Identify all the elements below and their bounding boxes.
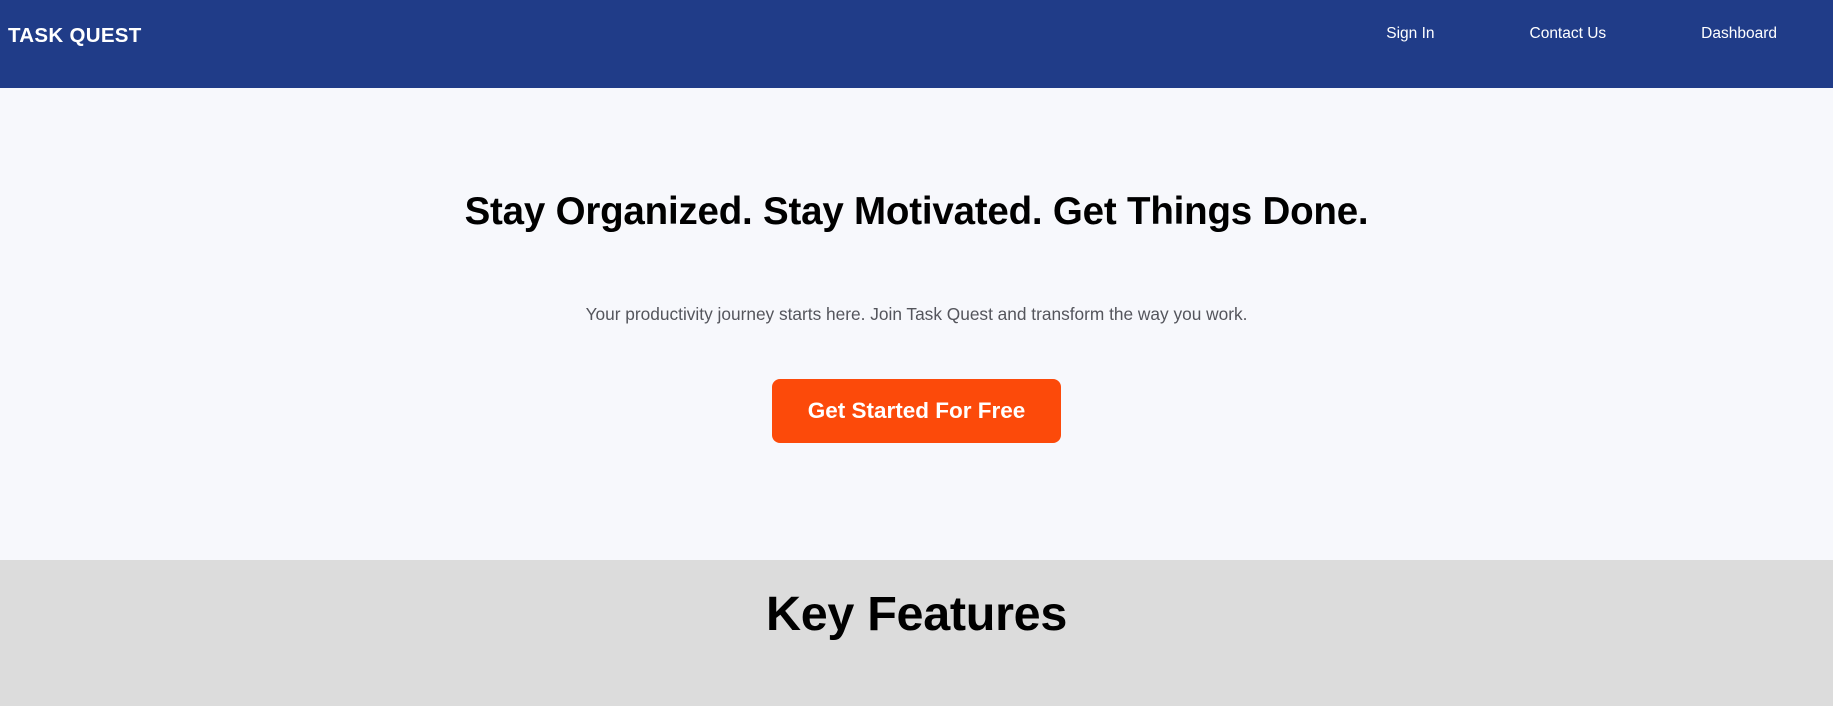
hero-cta-container: Get Started For Free (0, 379, 1833, 443)
hero-headline: Stay Organized. Stay Motivated. Get Thin… (465, 193, 1369, 232)
nav-link-contact-us[interactable]: Contact Us (1530, 26, 1607, 42)
landing-page: TASK QUEST Sign In Contact Us Dashboard … (0, 0, 1833, 706)
hero-section: Stay Organized. Stay Motivated. Get Thin… (0, 88, 1833, 560)
nav-link-sign-in[interactable]: Sign In (1386, 26, 1434, 42)
site-logo[interactable]: TASK QUEST (8, 26, 142, 47)
site-header: TASK QUEST Sign In Contact Us Dashboard (0, 0, 1833, 88)
primary-navigation: Sign In Contact Us Dashboard (1386, 26, 1777, 42)
key-features-section: Key Features (0, 560, 1833, 706)
key-features-heading: Key Features (766, 590, 1067, 639)
nav-link-dashboard[interactable]: Dashboard (1701, 26, 1777, 42)
get-started-button[interactable]: Get Started For Free (772, 379, 1062, 443)
hero-subheadline: Your productivity journey starts here. J… (586, 306, 1248, 323)
